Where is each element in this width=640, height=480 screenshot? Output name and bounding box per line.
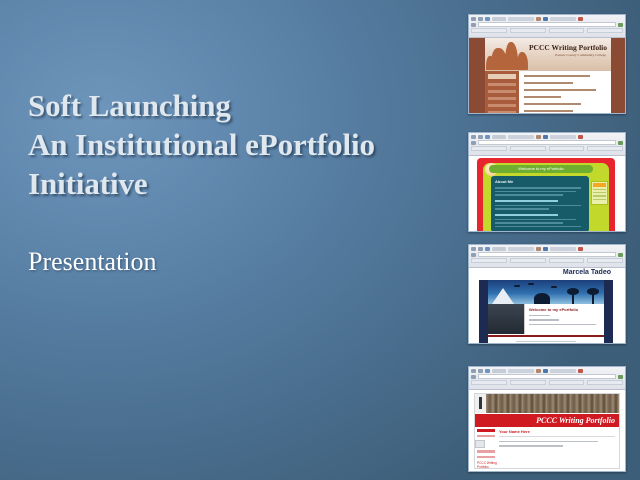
sidebar-nav-item[interactable]	[477, 450, 495, 453]
text-line	[529, 319, 559, 320]
hero-image: PCCC Writing Portfolio Passaic County Co…	[485, 38, 611, 71]
reload-icon	[485, 135, 490, 139]
favicon-icon	[471, 23, 476, 27]
address-bar[interactable]	[478, 22, 616, 27]
thumbnail-pccc-writing-portfolio-red[interactable]: PCCC Writing Portfolio PCCC Writing Port…	[468, 366, 626, 472]
bookmark-item[interactable]	[471, 146, 507, 151]
text-line	[524, 75, 590, 77]
text-line	[524, 96, 561, 98]
profile-photo	[488, 304, 525, 334]
browser-chrome	[469, 15, 625, 38]
bookmark-item[interactable]	[587, 28, 623, 33]
sidebar-nav-item[interactable]	[488, 104, 516, 107]
address-bar[interactable]	[478, 374, 616, 379]
forward-icon	[478, 247, 483, 251]
text-line	[499, 445, 563, 446]
bookmark-item[interactable]	[471, 258, 507, 263]
back-icon	[471, 17, 476, 21]
page-content: PCCC Writing Portfolio PCCC Writing Port…	[469, 390, 625, 472]
bookmarks-bar[interactable]	[471, 28, 623, 33]
header-photo	[475, 394, 619, 414]
footer-line	[516, 341, 576, 342]
panel-heading: About Me	[495, 179, 585, 184]
browser-button-row	[471, 246, 623, 251]
subheading-line	[495, 214, 558, 216]
stop-icon	[578, 17, 583, 21]
address-bar-row[interactable]	[471, 22, 623, 27]
bookmarks-bar[interactable]	[471, 380, 623, 385]
airplane-icon	[514, 285, 520, 287]
bookmark-icon	[536, 369, 541, 373]
go-icon	[618, 375, 623, 379]
browser-button-row	[471, 134, 623, 139]
sidebar-line	[593, 192, 606, 193]
mountain-icon	[492, 288, 514, 304]
text-line	[495, 226, 581, 228]
bookmark-item[interactable]	[587, 380, 623, 385]
menu-icon	[492, 17, 506, 21]
sidebar-label: PCCC Writing Portfolio	[477, 461, 497, 469]
stop-icon	[578, 135, 583, 139]
bookmark-item[interactable]	[510, 146, 546, 151]
page-heading: Your Name Here	[499, 429, 615, 434]
subheading-line	[495, 200, 558, 202]
back-icon	[471, 247, 476, 251]
text-line	[529, 315, 550, 316]
welcome-banner: Welcome to my ePortfolio	[489, 165, 593, 173]
bookmarks-bar[interactable]	[471, 258, 623, 263]
go-icon	[618, 253, 623, 257]
bookmark-item[interactable]	[587, 146, 623, 151]
back-icon	[471, 135, 476, 139]
page-content: PCCC Writing Portfolio Passaic County Co…	[469, 38, 625, 114]
book-spine-icon	[479, 397, 482, 409]
sidebar-nav-item[interactable]	[488, 97, 516, 100]
sidebar-nav[interactable]: PCCC Writing Portfolio	[475, 427, 497, 469]
page-content: Marcela Tadeo	[469, 268, 625, 344]
about-panel: About Me	[491, 176, 589, 232]
main-content	[519, 71, 611, 114]
site-title: Marcela Tadeo	[563, 269, 611, 276]
text-line	[495, 222, 563, 224]
toolbar-group-2-icon	[550, 369, 576, 373]
reload-icon	[485, 247, 490, 251]
title-line-1: Soft Launching	[28, 86, 448, 125]
bookmark-icon	[536, 247, 541, 251]
text-line	[495, 205, 581, 207]
divider	[499, 436, 615, 437]
palm-fronds-icon	[567, 288, 579, 295]
palm-fronds-icon	[587, 288, 599, 295]
slide-subtitle: Presentation	[28, 247, 157, 277]
text-line	[524, 82, 573, 84]
browser-chrome	[469, 367, 625, 390]
address-bar-row[interactable]	[471, 252, 623, 257]
bookmarks-bar[interactable]	[471, 146, 623, 151]
site-banner: PCCC Writing Portfolio	[475, 414, 619, 427]
airplane-icon	[528, 283, 534, 285]
bookmark-icon	[536, 135, 541, 139]
favicon-icon	[471, 141, 476, 145]
menu-icon	[492, 247, 506, 251]
menu-icon	[492, 369, 506, 373]
bookmark-icon	[536, 17, 541, 21]
home-icon	[543, 135, 548, 139]
menu-icon	[492, 135, 506, 139]
sidebar-nav-item[interactable]	[477, 429, 495, 432]
stop-icon	[578, 247, 583, 251]
toolbar-group-2-icon	[550, 135, 576, 139]
text-line	[524, 103, 581, 105]
bookmark-item[interactable]	[471, 28, 507, 33]
thumbnail-pccc-writing-portfolio-orange[interactable]: PCCC Writing Portfolio Passaic County Co…	[468, 14, 626, 114]
forward-icon	[478, 135, 483, 139]
toolbar-group-icon	[508, 17, 534, 21]
bookmark-item[interactable]	[471, 380, 507, 385]
text-line	[524, 89, 596, 91]
thumbnail-student-eportfolio-colorful[interactable]: Welcome to my ePortfolio About Me	[468, 132, 626, 232]
intro-text-block: Welcome to my ePortfolio	[525, 304, 604, 334]
title-line-2: An Institutional ePortfolio	[28, 125, 448, 164]
sidebar-nav-item[interactable]	[488, 74, 516, 79]
text-line	[524, 110, 573, 112]
toolbar-group-icon	[508, 247, 534, 251]
presentation-slide: Soft Launching An Institutional ePortfol…	[0, 0, 640, 480]
bookmark-item[interactable]	[510, 380, 546, 385]
address-bar-row[interactable]	[471, 374, 623, 379]
browser-chrome	[469, 245, 625, 268]
slide-title: Soft Launching An Institutional ePortfol…	[28, 86, 448, 203]
sidebar-button[interactable]	[593, 183, 606, 187]
text-line	[495, 187, 581, 189]
dome-landmark-icon	[534, 293, 550, 304]
text-line	[495, 208, 549, 210]
rock-shape-icon	[517, 52, 528, 70]
page-content: Welcome to my ePortfolio About Me	[469, 156, 625, 232]
reload-icon	[485, 17, 490, 21]
sidebar-line	[593, 189, 606, 190]
home-icon	[543, 247, 548, 251]
bookmark-item[interactable]	[587, 258, 623, 263]
page-footer	[488, 337, 604, 345]
bookmark-item[interactable]	[510, 258, 546, 263]
sidebar-line	[593, 195, 606, 196]
go-icon	[618, 141, 623, 145]
bookmark-item[interactable]	[549, 258, 585, 263]
hero-banner	[488, 280, 604, 304]
site-title: PCCC Writing Portfolio	[536, 416, 615, 425]
browser-button-row	[471, 368, 623, 373]
back-icon	[471, 369, 476, 373]
toolbar-group-2-icon	[550, 247, 576, 251]
sidebar-nav-item[interactable]	[488, 111, 516, 114]
page-left-margin	[469, 38, 485, 114]
forward-icon	[478, 17, 483, 21]
sidebar-nav-item[interactable]	[488, 83, 516, 86]
address-bar[interactable]	[478, 252, 616, 257]
site-tagline: Passaic County Community College	[555, 53, 606, 57]
sidebar-widget[interactable]	[591, 181, 608, 205]
sidebar-thumbnail	[475, 440, 485, 448]
title-line-3: Initiative	[28, 164, 448, 203]
site-header: Marcela Tadeo	[469, 268, 625, 280]
text-line	[495, 191, 576, 193]
page-right-margin	[611, 38, 625, 114]
favicon-icon	[471, 375, 476, 379]
address-bar-row[interactable]	[471, 140, 623, 145]
rock-shape-icon	[486, 56, 495, 70]
toolbar-group-2-icon	[550, 17, 576, 21]
bookmark-item[interactable]	[510, 28, 546, 33]
home-icon	[543, 17, 548, 21]
page-frame: Welcome to my ePortfolio	[479, 280, 613, 344]
text-line	[495, 194, 563, 196]
toolbar-group-icon	[508, 369, 534, 373]
address-bar[interactable]	[478, 140, 616, 145]
sidebar-line	[593, 199, 606, 200]
toolbar-group-icon	[508, 135, 534, 139]
text-line	[529, 324, 596, 325]
stop-icon	[578, 369, 583, 373]
main-content: Your Name Here	[497, 427, 619, 469]
airplane-icon	[551, 286, 557, 288]
thumbnail-marcela-tadeo-portfolio[interactable]: Marcela Tadeo	[468, 244, 626, 344]
bookmark-item[interactable]	[549, 28, 585, 33]
reload-icon	[485, 369, 490, 373]
photo-left-panel	[475, 394, 486, 413]
page-heading: Welcome to my ePortfolio	[529, 307, 600, 312]
browser-chrome	[469, 133, 625, 156]
sidebar-nav-item[interactable]	[477, 456, 495, 459]
go-icon	[618, 23, 623, 27]
bookmark-item[interactable]	[549, 380, 585, 385]
favicon-icon	[471, 253, 476, 257]
sidebar-nav-item[interactable]	[477, 435, 495, 438]
bookmark-item[interactable]	[549, 146, 585, 151]
text-line	[495, 219, 576, 221]
sidebar-nav[interactable]	[485, 71, 519, 114]
sidebar-nav-item[interactable]	[488, 90, 516, 93]
forward-icon	[478, 369, 483, 373]
text-line	[499, 441, 598, 442]
site-title: PCCC Writing Portfolio	[529, 43, 607, 52]
home-icon	[543, 369, 548, 373]
browser-button-row	[471, 16, 623, 21]
